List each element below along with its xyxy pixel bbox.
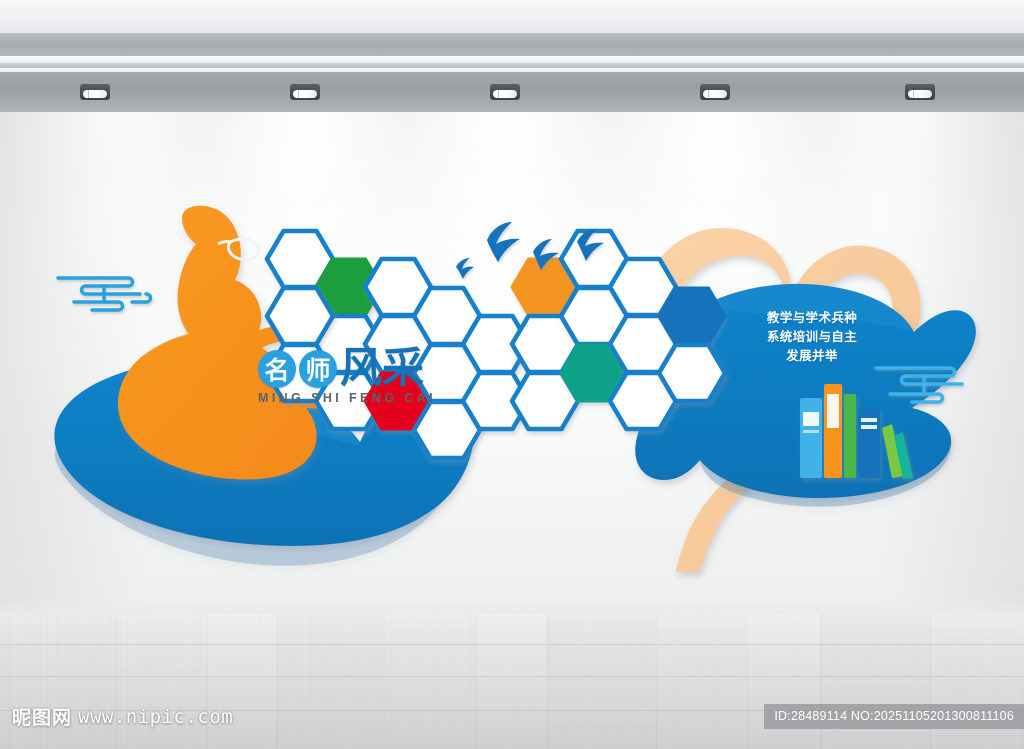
floor-wood-grain — [677, 614, 678, 749]
floor-wood-grain — [741, 614, 742, 749]
floor-wood-grain — [552, 614, 553, 749]
floor-wood-grain — [330, 614, 331, 749]
hexagon-photo-frame[interactable] — [659, 288, 725, 344]
floor-wood-grain — [368, 614, 369, 749]
title-char-2-badge: 师 — [299, 350, 337, 388]
hexagon-photo-frame[interactable] — [659, 345, 725, 401]
floor-wood-grain — [275, 614, 276, 749]
floor-wood-grain — [602, 614, 603, 749]
floor-wood-grain — [521, 614, 522, 749]
floor-wood-grain — [651, 614, 652, 749]
floor-wood-grain — [402, 614, 403, 749]
floor-wood-grain — [420, 614, 421, 749]
floor-wood-grain — [280, 614, 281, 749]
floor-wood-grain — [469, 614, 470, 749]
floor-wood-grain — [632, 614, 633, 749]
floor-wood-grain — [297, 614, 298, 749]
floor-wood-grain — [432, 614, 433, 749]
floor-plank — [385, 614, 476, 749]
wall-title-characters: 名 师 风 采 — [258, 342, 436, 388]
floor-wood-grain — [716, 614, 717, 749]
floor-wood-grain — [340, 614, 341, 749]
flying-bird — [456, 258, 474, 279]
floor-wood-grain — [757, 614, 758, 749]
site-watermark: 昵图网 www.nipic.com — [12, 703, 233, 730]
chinese-cloud-motif — [58, 278, 151, 310]
floor-wood-grain — [581, 614, 582, 749]
floor-wood-grain — [710, 614, 711, 749]
floor-wood-grain — [723, 614, 724, 749]
floor-wood-grain — [731, 614, 732, 749]
ceiling-spotlight — [490, 84, 520, 100]
floor-wood-grain — [482, 614, 483, 749]
floor-wood-grain — [689, 614, 690, 749]
book-lightblue — [800, 398, 822, 478]
book-green — [844, 394, 856, 478]
floor-wood-grain — [642, 614, 643, 749]
floor-wood-grain — [436, 614, 437, 749]
wall-title-lockup: 名 师 风 采 MING SHI FENG CAI — [258, 342, 436, 405]
floor-wood-grain — [529, 614, 530, 749]
slogan-line-3: 发展并举 — [760, 346, 864, 365]
floor-wood-grain — [516, 614, 517, 749]
culture-wall-artwork: 名 师 风 采 MING SHI FENG CAI 教学与学术兵种 系统培训与自… — [0, 112, 1024, 614]
slogan-block: 教学与学术兵种 系统培训与自主 发展并举 — [760, 308, 864, 365]
ceiling-upper-surface — [0, 0, 1024, 33]
floor-wood-grain — [321, 614, 322, 749]
ceiling-spotlight — [905, 84, 935, 100]
artwork-vector-canvas — [0, 112, 1024, 614]
floor-wood-grain — [476, 614, 477, 749]
floor-wood-grain — [699, 614, 700, 749]
floor-wood-grain — [549, 614, 550, 749]
floor-wood-grain — [556, 614, 557, 749]
ceiling-spotlight — [700, 84, 730, 100]
floor-wood-grain — [377, 614, 378, 749]
floor-wood-grain — [311, 614, 312, 749]
floor-wood-grain — [260, 614, 261, 749]
floor-wood-grain — [272, 614, 273, 749]
floor-wood-grain — [448, 614, 449, 749]
floor-wood-grain — [762, 614, 763, 749]
site-name-cn: 昵图网 — [12, 703, 72, 730]
title-pinyin: MING SHI FENG CAI — [258, 391, 436, 405]
floor-wood-grain — [490, 614, 491, 749]
floor-wood-grain — [570, 614, 571, 749]
floor-wood-grain — [361, 614, 362, 749]
ceiling-spotlight — [80, 84, 110, 100]
floor-plank — [277, 614, 386, 749]
floor-wood-grain — [395, 614, 396, 749]
floor-wood-grain — [315, 614, 316, 749]
site-url: www.nipic.com — [78, 706, 233, 728]
ceiling-molding-band-1 — [0, 33, 1024, 56]
hexagon-photo-frame[interactable] — [267, 288, 333, 344]
floor-wood-grain — [391, 614, 392, 749]
slogan-line-2: 系统培训与自主 — [760, 327, 864, 346]
floor-wood-grain — [355, 614, 356, 749]
floor-wood-grain — [754, 614, 755, 749]
floor-wood-grain — [241, 614, 242, 749]
asset-id-badge: ID:28489114 NO:20251105201300811106 — [764, 704, 1024, 729]
floor-wood-grain — [593, 614, 594, 749]
floor-wood-grain — [249, 614, 250, 749]
title-char-4: 采 — [382, 348, 424, 388]
floor-wood-grain — [596, 614, 597, 749]
floor-wood-grain — [308, 614, 309, 749]
floor-wood-grain — [410, 614, 411, 749]
floor-plank — [656, 614, 748, 749]
title-char-1-badge: 名 — [258, 350, 296, 388]
ceiling-molding-band-2 — [0, 56, 1024, 63]
floor-wood-grain — [500, 614, 501, 749]
floor-wood-grain — [682, 614, 683, 749]
floor-wood-grain — [513, 614, 514, 749]
title-char-3: 风 — [340, 348, 382, 388]
screenshot-root: 名 师 风 采 MING SHI FENG CAI 教学与学术兵种 系统培训与自… — [0, 0, 1024, 749]
slogan-line-1: 教学与学术兵种 — [760, 308, 864, 327]
floor-wood-grain — [235, 614, 236, 749]
floor-wood-grain — [661, 614, 662, 749]
floor-wood-grain — [630, 614, 631, 749]
floor-wood-grain — [636, 614, 637, 749]
floor-wood-grain — [538, 614, 539, 749]
floor-wood-grain — [441, 614, 442, 749]
floor-wood-grain — [389, 614, 390, 749]
floor-wood-grain — [562, 614, 563, 749]
floor-wood-grain — [288, 614, 289, 749]
flying-bird — [487, 222, 520, 262]
floor-wood-grain — [618, 614, 619, 749]
floor-wood-grain — [8, 614, 9, 749]
ceiling-spotlight — [290, 84, 320, 100]
floor-wood-grain — [0, 614, 1, 749]
floor-wood-grain — [471, 614, 472, 749]
floor-wood-grain — [458, 614, 459, 749]
floor-wood-grain — [712, 614, 713, 749]
floor-wood-grain — [352, 614, 353, 749]
floor-wood-grain — [609, 614, 610, 749]
floor-wood-grain — [673, 614, 674, 749]
